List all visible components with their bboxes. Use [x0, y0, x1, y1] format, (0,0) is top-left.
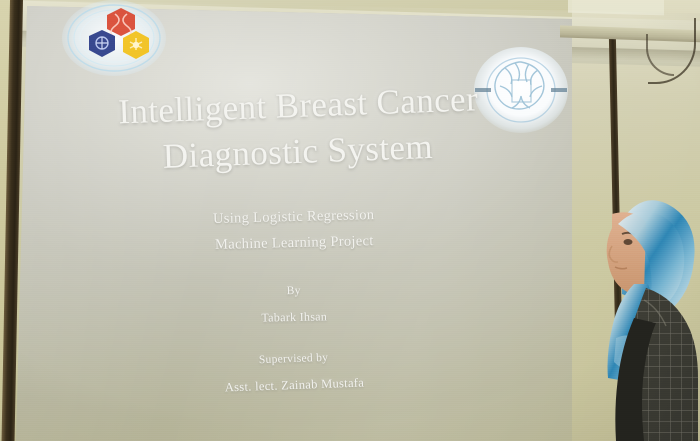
screenshot-canvas: Intelligent Breast Cancer Diagnostic Sys… — [0, 0, 700, 441]
projection-screen — [16, 6, 572, 441]
presenter-woman — [560, 168, 700, 441]
